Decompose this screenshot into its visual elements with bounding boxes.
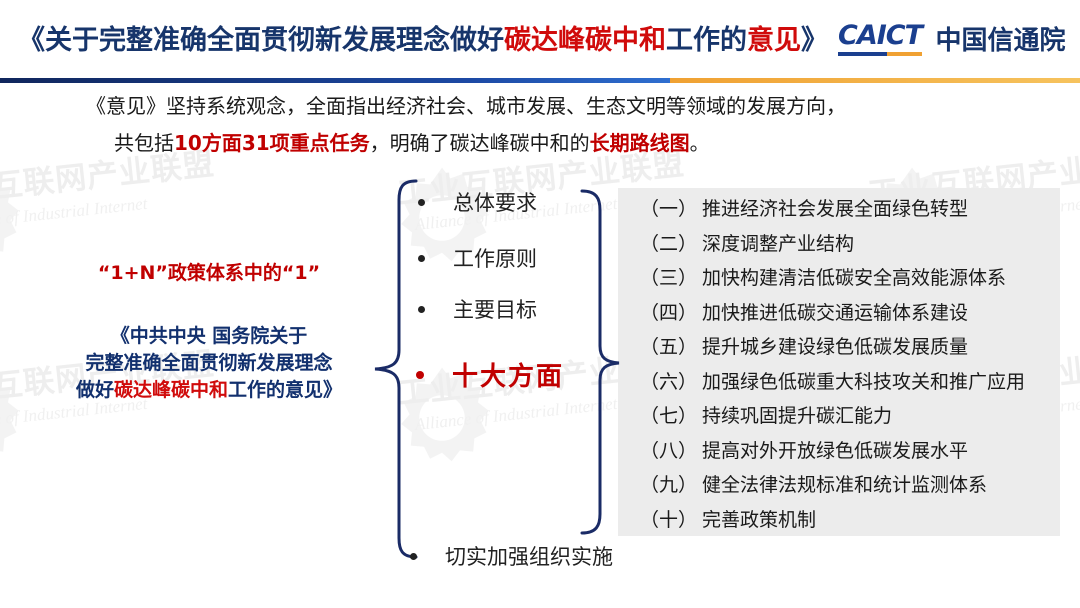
list-item-number: （六）	[640, 367, 697, 394]
left-document-block: “1+N”政策体系中的“1” 《中共中央 国务院关于 完整准确全面贯彻新发展理念…	[44, 258, 374, 404]
bullet-label: 主要目标	[453, 294, 537, 324]
slide-header: 《关于完整准确全面贯彻新发展理念做好碳达峰碳中和工作的意见》 CAICT 中国信…	[0, 0, 1080, 80]
watermark-en: Alliance of Industrial Internet	[0, 187, 217, 235]
intro-line-2: 共包括10方面31项重点任务，明确了碳达峰碳中和的长期路线图。	[114, 125, 1046, 162]
watermark: 工业互联网产业联盟 Alliance of Industrial Interne…	[0, 168, 218, 235]
right-brace	[578, 188, 622, 536]
bullet-dot-icon	[418, 255, 425, 262]
list-item-label: 完善政策机制	[702, 505, 816, 532]
gear-icon	[0, 158, 32, 278]
list-item[interactable]: （四） 加快推进低碳交通运输体系建设	[640, 298, 1070, 333]
title-part-4: 意见	[747, 25, 801, 56]
logo-wordmark: CAICT	[838, 20, 922, 56]
list-item-number: （三）	[640, 263, 697, 290]
bullet-dot-icon	[410, 553, 417, 560]
intro-line-1: 《意见》坚持系统观念，全面指出经济社会、城市发展、生态文明等领域的发展方向，	[86, 88, 1046, 125]
title-part-5: 》	[801, 25, 828, 56]
list-item-number: （八）	[640, 436, 697, 463]
bullet-item-ten-aspects[interactable]: 十大方面	[416, 356, 564, 393]
bullet-label: 总体要求	[453, 187, 537, 217]
document-title: 《中共中央 国务院关于 完整准确全面贯彻新发展理念 做好碳达峰碳中和工作的意见》	[44, 323, 374, 404]
bullet-item-organization-implementation[interactable]: 切实加强组织实施	[410, 541, 613, 571]
title-part-2: 碳达峰碳中和	[504, 25, 666, 56]
intro-highlight-tasks: 10方面31项重点任务	[174, 131, 370, 155]
list-item-number: （九）	[640, 470, 697, 497]
list-item-label: 推进经济社会发展全面绿色转型	[702, 194, 968, 221]
slide-canvas: 工业互联网产业联盟 Alliance of Industrial Interne…	[0, 0, 1080, 608]
logo-underline	[838, 52, 922, 56]
list-item-label: 加强绿色低碳重大科技攻关和推广应用	[702, 367, 1025, 394]
bullet-dot-icon	[416, 371, 424, 379]
list-item-number: （二）	[640, 229, 697, 256]
list-item-label: 加快构建清洁低碳安全高效能源体系	[702, 263, 1006, 290]
policy-system-label: “1+N”政策体系中的“1”	[44, 258, 374, 285]
document-title-line-2: 完整准确全面贯彻新发展理念	[44, 350, 374, 377]
logo-wordmark-text: CAICT	[838, 20, 922, 51]
list-item-label: 提高对外开放绿色低碳发展水平	[702, 436, 968, 463]
list-item-number: （四）	[640, 298, 697, 325]
list-item-number: （一）	[640, 194, 697, 221]
list-item[interactable]: （二） 深度调整产业结构	[640, 229, 1070, 264]
left-brace	[372, 178, 418, 560]
bullet-label: 工作原则	[453, 243, 537, 273]
doc-title-l3-highlight: 碳达峰碳中和	[114, 379, 228, 401]
list-item-number: （七）	[640, 401, 697, 428]
list-item-number: （五）	[640, 332, 697, 359]
intro-highlight-roadmap: 长期路线图	[590, 131, 690, 155]
list-item[interactable]: （三） 加快构建清洁低碳安全高效能源体系	[640, 263, 1070, 298]
gear-icon	[0, 358, 32, 478]
bullet-item-work-principles[interactable]: 工作原则	[418, 243, 537, 273]
bullet-dot-icon	[418, 306, 425, 313]
bullet-label: 切实加强组织实施	[445, 541, 613, 571]
list-item[interactable]: （五） 提升城乡建设绿色低碳发展质量	[640, 332, 1070, 367]
title-part-3: 工作的	[666, 25, 747, 56]
ten-aspects-list: （一） 推进经济社会发展全面绿色转型 （二） 深度调整产业结构 （三） 加快构建…	[640, 194, 1070, 539]
page-title: 《关于完整准确全面贯彻新发展理念做好碳达峰碳中和工作的意见》	[18, 18, 828, 57]
bullet-dot-icon	[418, 199, 425, 206]
bullet-item-main-goals[interactable]: 主要目标	[418, 294, 537, 324]
list-item-label: 深度调整产业结构	[702, 229, 854, 256]
list-item[interactable]: （七） 持续巩固提升碳汇能力	[640, 401, 1070, 436]
doc-title-l3-a: 做好	[76, 379, 114, 401]
caict-logo: CAICT 中国信通院	[838, 20, 1065, 57]
list-item[interactable]: （九） 健全法律法规标准和统计监测体系	[640, 470, 1070, 505]
list-item[interactable]: （六） 加强绿色低碳重大科技攻关和推广应用	[640, 367, 1070, 402]
intro-line-2-b: ，明确了碳达峰碳中和的	[370, 131, 590, 155]
title-part-1: 《关于完整准确全面贯彻新发展理念做好	[18, 25, 504, 56]
document-title-line-1: 《中共中央 国务院关于	[44, 323, 374, 350]
intro-paragraph: 《意见》坚持系统观念，全面指出经济社会、城市发展、生态文明等领域的发展方向， 共…	[86, 88, 1046, 162]
bullet-label: 十大方面	[452, 356, 564, 393]
logo-cn-text: 中国信通院	[935, 20, 1065, 57]
list-item-label: 持续巩固提升碳汇能力	[702, 401, 892, 428]
intro-line-1-text: 《意见》坚持系统观念，全面指出经济社会、城市发展、生态文明等领域的发展方向，	[86, 94, 846, 118]
list-item-label: 提升城乡建设绿色低碳发展质量	[702, 332, 968, 359]
list-item[interactable]: （八） 提高对外开放绿色低碳发展水平	[640, 436, 1070, 471]
doc-title-l3-b: 工作的意见》	[228, 379, 342, 401]
header-divider	[0, 78, 1080, 83]
list-item[interactable]: （一） 推进经济社会发展全面绿色转型	[640, 194, 1070, 229]
list-item-label: 健全法律法规标准和统计监测体系	[702, 470, 987, 497]
intro-line-2-c: 。	[690, 131, 710, 155]
list-item[interactable]: （十） 完善政策机制	[640, 505, 1070, 540]
list-item-label: 加快推进低碳交通运输体系建设	[702, 298, 968, 325]
bullet-item-overall-requirements[interactable]: 总体要求	[418, 187, 537, 217]
intro-line-2-a: 共包括	[114, 131, 174, 155]
list-item-number: （十）	[640, 505, 697, 532]
document-title-line-3: 做好碳达峰碳中和工作的意见》	[44, 377, 374, 404]
